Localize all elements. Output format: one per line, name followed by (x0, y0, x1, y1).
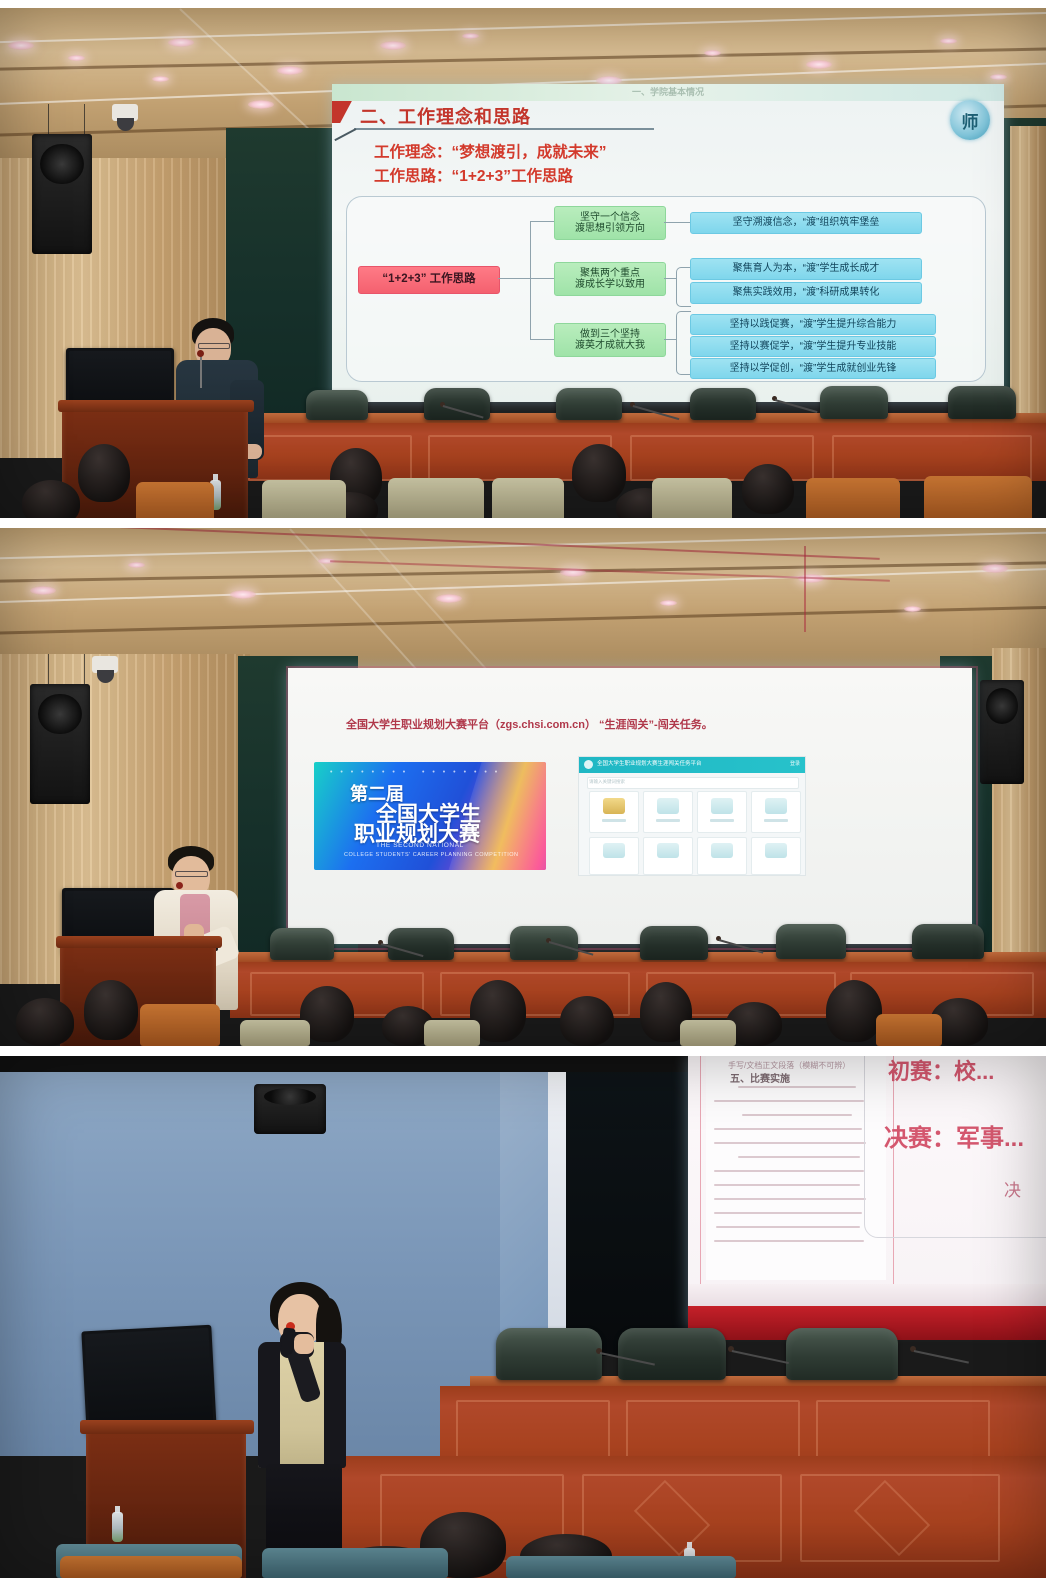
skirt (266, 1464, 342, 1558)
audience-head (84, 980, 138, 1040)
panel-gap (0, 1578, 1046, 1586)
audience-head (16, 998, 74, 1046)
panel-3-photo: 手写/文档正文段落（模糊不可辨） 五、比赛实施 (0, 1056, 1046, 1578)
audience-head (826, 980, 882, 1042)
stage-chair (820, 386, 888, 419)
audience-head (742, 464, 794, 514)
platform-card[interactable] (751, 791, 801, 833)
card-thumb (711, 843, 733, 858)
site-title: 全国大学生职业规划大赛生涯闯关任务平台 (597, 759, 702, 767)
projection-screen-1: 一、学院基本情况 二、工作理念和思路 师 工作理念：“梦想渡引，成就未来” 工作… (332, 84, 1004, 402)
microphone-arm (732, 1350, 789, 1364)
vest-side-black (258, 1342, 280, 1468)
podium-mic (197, 350, 204, 357)
audience-head (78, 444, 130, 502)
connector (664, 222, 690, 223)
vest-side-black (324, 1342, 346, 1468)
audience-chair (492, 478, 564, 518)
diagram-branch-1-label: 坚守一个信念 渡思想引领方向 (554, 206, 666, 240)
poster-dots: • • • • • • • • (422, 769, 500, 776)
site-header: 全国大学生职业规划大赛生涯闯关任务平台 登录 (579, 757, 805, 773)
audience-chair (262, 480, 346, 518)
diagram-leaf: 聚焦实践效用，“渡”科研成果转化 (690, 282, 922, 304)
ceiling-light (152, 76, 169, 82)
site-logo-icon (584, 760, 593, 769)
competition-poster: • • • • • • • • • • • • • • • • 第二届 全国大学… (314, 762, 546, 870)
podium-top (58, 400, 254, 412)
wall-panel (832, 435, 1032, 481)
slide-heading: 全国大学生职业规划大赛平台（zgs.chsi.com.cn） “生涯闯关”-闯关… (346, 716, 713, 732)
slide-partial-glyph: 决 (1004, 1176, 1021, 1201)
card-thumb (657, 843, 679, 858)
stage-chair (912, 924, 984, 959)
slide-line-1: 工作理念：“梦想渡引，成就未来” (374, 140, 607, 162)
stage-chair (776, 924, 846, 959)
stage-chair (556, 388, 622, 420)
diagram-branch-3-label: 做到三个坚持 渡英才成就大我 (554, 323, 666, 357)
ceiling-light (380, 41, 406, 50)
ceiling-light (462, 33, 479, 39)
card-label (602, 819, 626, 822)
ceiling-light (168, 38, 194, 47)
slide-line-2: 工作思路：“1+2+3”工作思路 (374, 164, 573, 186)
ceiling-light (436, 594, 462, 603)
poster-english-2: COLLEGE STUDENTS' CAREER PLANNING COMPET… (344, 852, 519, 858)
panel-gap (0, 518, 1046, 528)
speaker-wire (48, 654, 49, 688)
presenter-3 (250, 1282, 376, 1562)
diagram-root-node: “1+2+3” 工作思路 (358, 266, 500, 294)
audience-chair (136, 482, 214, 518)
card-thumb (765, 843, 787, 858)
speaker-wire (84, 104, 85, 138)
ceiling-light (8, 41, 34, 50)
card-thumb (603, 798, 625, 814)
ceiling-speaker-right (980, 680, 1024, 784)
panel-gap (0, 1046, 1046, 1056)
poster-dots: • • • • • • • • (330, 769, 408, 776)
audience-chair (424, 1020, 480, 1046)
audience-chair (652, 478, 732, 518)
podium-top (56, 936, 222, 948)
panel-2-photo: 全国大学生职业规划大赛平台（zgs.chsi.com.cn） “生涯闯关”-闯关… (0, 528, 1046, 1046)
ceiling-light (68, 55, 85, 61)
ceiling-light (982, 564, 1008, 573)
card-thumb (711, 798, 733, 814)
slide-line-chusai: 初赛：校... (888, 1056, 994, 1086)
microphone-arm (914, 1350, 969, 1363)
speaker-wire (84, 654, 85, 688)
ceiling-light (248, 100, 274, 109)
panel-1-photo: 一、学院基本情况 二、工作理念和思路 师 工作理念：“梦想渡引，成就未来” 工作… (0, 8, 1046, 518)
security-camera-icon (92, 656, 118, 673)
stage-chair (496, 1328, 602, 1380)
ceiling-speaker-left (30, 684, 90, 804)
podium-mic (176, 882, 183, 889)
stage-chair (786, 1328, 898, 1380)
audience-chair (262, 1548, 448, 1578)
ceiling-light (277, 66, 303, 75)
connector (530, 221, 554, 222)
ceiling-light (806, 60, 832, 69)
connector (664, 278, 677, 279)
screen-bottom-edge (688, 1284, 1046, 1306)
platform-card[interactable] (643, 791, 693, 833)
slide-partial-top-title: 一、学院基本情况 (332, 84, 1004, 98)
audience-chair (60, 1556, 242, 1578)
audience-chair (506, 1556, 736, 1578)
audience-head (572, 444, 626, 502)
logo-glyph: 师 (962, 108, 979, 133)
audience-chair (240, 1020, 310, 1046)
diagram-leaf: 坚持以践促赛，“渡”学生提升综合能力 (690, 314, 936, 335)
diagram-leaf: 坚守溯渡信念，“渡”组织筑牢堡垒 (690, 212, 922, 234)
platform-card[interactable] (697, 791, 747, 833)
platform-card[interactable] (751, 837, 801, 875)
ceiling-light (904, 606, 921, 612)
connector (498, 278, 530, 279)
audience-chair (876, 1014, 942, 1046)
diagram-leaf: 坚持以赛促学，“渡”学生提升专业技能 (690, 336, 936, 357)
slide-line-juesai: 决赛：军事... (884, 1118, 1024, 1153)
podium-mic-stand (200, 354, 202, 388)
ceiling-speaker-left (32, 134, 92, 254)
card-label (764, 819, 788, 822)
speaker-wire (48, 104, 49, 138)
glasses-icon (198, 343, 230, 349)
audience-head (22, 480, 80, 518)
dark-wall (566, 1056, 692, 1356)
diagram-branch-2-label: 聚焦两个重点 渡成长学以致用 (554, 262, 666, 296)
audience-chair (140, 1004, 220, 1046)
ceiling-light (30, 586, 56, 595)
stage-chair (948, 386, 1016, 419)
ceiling-light (230, 590, 256, 599)
connector-bracket (676, 267, 691, 307)
stage-chair (306, 390, 368, 420)
audience-head (560, 996, 614, 1046)
connector (664, 339, 677, 340)
poster-english-1: THE SECOND NATIONAL (376, 842, 464, 849)
ceiling-light (940, 38, 957, 44)
photo-collage: 一、学院基本情况 二、工作理念和思路 师 工作理念：“梦想渡引，成就未来” 工作… (0, 0, 1046, 1586)
ceiling-light (704, 50, 721, 56)
audience-chair (924, 476, 1032, 518)
podium-top (80, 1420, 254, 1434)
security-camera-icon (112, 104, 138, 121)
panel-gap (0, 0, 1046, 8)
stage-chair (618, 1328, 726, 1380)
wall-speaker (254, 1084, 326, 1134)
audience-chair (680, 1020, 736, 1046)
audience-chair (388, 478, 484, 518)
platform-screenshot: 全国大学生职业规划大赛生涯闯关任务平台 登录 请输入关键词搜索 (578, 756, 806, 876)
glasses-icon (175, 871, 208, 877)
stage-chair (510, 926, 578, 960)
hand (294, 1334, 314, 1354)
search-placeholder: 请输入关键词搜索 (589, 779, 625, 785)
connector (530, 339, 554, 340)
diagram-leaf: 聚焦育人为本，“渡”学生成长成才 (690, 258, 922, 280)
card-thumb (765, 798, 787, 814)
podium-monitor (81, 1325, 216, 1436)
card-label (710, 819, 734, 822)
stage-chair (640, 926, 708, 960)
connector (530, 221, 531, 339)
platform-card[interactable] (697, 837, 747, 875)
document-heading: 五、比赛实施 (730, 1070, 790, 1085)
platform-card[interactable] (589, 837, 639, 875)
ceiling-light (128, 562, 145, 568)
platform-card[interactable] (589, 791, 639, 833)
card-thumb (657, 798, 679, 814)
audience-chair (806, 478, 900, 518)
diagram-leaf: 坚持以学促创，“渡”学生成就创业先锋 (690, 358, 936, 379)
card-label (656, 819, 680, 822)
login-link[interactable]: 登录 (790, 760, 800, 767)
slide-section-title: 二、工作理念和思路 (360, 103, 531, 129)
platform-card[interactable] (643, 837, 693, 875)
stage-chair (270, 928, 334, 960)
projection-screen-2: 全国大学生职业规划大赛平台（zgs.chsi.com.cn） “生涯闯关”-闯关… (288, 668, 972, 944)
stage-chair (690, 388, 756, 420)
university-logo: 师 (950, 100, 990, 140)
connector-bracket (676, 311, 691, 375)
wood-wall-right (1010, 126, 1046, 416)
connector (530, 278, 554, 279)
water-bottle (112, 1512, 123, 1542)
card-thumb (603, 843, 625, 858)
ceiling-light (990, 74, 1007, 80)
title-underline (354, 128, 654, 130)
document-body-lines (712, 1086, 878, 1272)
ceiling-light (660, 600, 677, 606)
